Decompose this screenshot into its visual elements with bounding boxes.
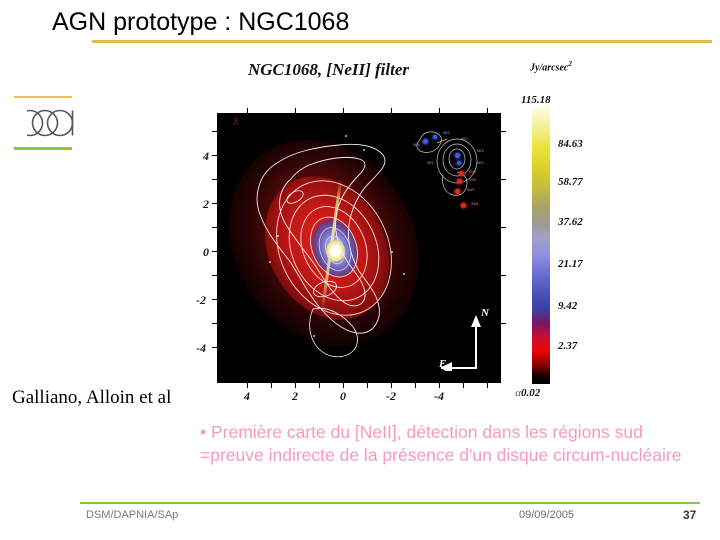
title-divider <box>92 40 712 43</box>
inset-label-ne4: NE4 <box>461 137 468 141</box>
compass-east-label: E <box>439 358 446 370</box>
colorbar-tick-84: 84.63 <box>558 138 583 150</box>
knot-blue-ne1 <box>457 161 461 165</box>
knot-red-sw4 <box>461 203 466 208</box>
y-tick <box>212 227 217 228</box>
alpha-axis-symbol: α <box>515 387 521 399</box>
slide-caption: • Première carte du [NeII], détection da… <box>200 421 700 467</box>
point-source <box>391 251 393 253</box>
x-tick-top <box>295 108 296 113</box>
x-tick <box>415 383 416 388</box>
knot-red-sw2 <box>457 179 462 184</box>
y-axis-label-m4: -4 <box>184 341 206 356</box>
colorbar-tick-21: 21.17 <box>558 258 583 270</box>
y-tick-right <box>501 227 506 228</box>
x-tick <box>487 383 488 388</box>
y-tick-right <box>501 131 506 132</box>
cea-logo <box>14 96 84 150</box>
x-tick-top <box>439 108 440 113</box>
x-tick <box>391 383 392 388</box>
plot-canvas: NE3 NE4 NE5 NE2 NE1 NE6 SW1 SW2 SW3 SW4 <box>217 113 501 383</box>
colorbar-tick-9: 9.42 <box>558 300 577 312</box>
y-tick <box>212 131 217 132</box>
x-tick-top <box>391 108 392 113</box>
inset-label-sw3: SW3 <box>467 188 474 192</box>
x-tick <box>319 383 320 388</box>
y-axis-label-m2: -2 <box>184 293 206 308</box>
inset-label-ne5: NE5 <box>477 149 484 153</box>
colorbar-tick-2: 2.37 <box>558 340 577 352</box>
knot-red-sw3 <box>455 189 460 194</box>
x-axis-label-m2: -2 <box>380 389 402 404</box>
footer-org: DSM/DAPNIA/SAp <box>86 509 178 521</box>
y-tick <box>212 275 217 276</box>
point-source <box>313 335 315 337</box>
y-tick-right <box>501 323 506 324</box>
page-title: AGN prototype : NGC1068 <box>52 8 349 37</box>
colorbar-unit-text: Jy/arcsec <box>530 62 568 73</box>
inset-label-ne1: NE1 <box>427 161 434 165</box>
inset-label-sw1: SW1 <box>469 170 476 174</box>
colorbar-max-label: 115.18 <box>521 94 551 106</box>
point-source <box>269 261 271 263</box>
compass-rose: N E <box>441 309 493 371</box>
x-tick <box>367 383 368 388</box>
x-tick <box>439 383 440 388</box>
y-axis-label-2: 2 <box>187 197 209 212</box>
x-axis-label-4: 4 <box>236 389 258 404</box>
y-tick <box>212 203 217 204</box>
x-tick-top <box>343 108 344 113</box>
y-axis-label-0: 0 <box>187 245 209 260</box>
inset-label-sw2: SW2 <box>469 178 476 182</box>
logo-rule-top <box>14 96 72 98</box>
point-source <box>403 273 405 275</box>
colorbar <box>532 108 550 384</box>
knot-blue-ne6 <box>423 139 428 144</box>
figure-title: NGC1068, [NeII] filter <box>248 60 409 80</box>
figure-credit: Galliano, Alloin et al <box>12 387 171 409</box>
colorbar-unit-exponent: 2 <box>568 60 572 68</box>
knot-blue-ne2 <box>455 153 460 158</box>
y-tick-right <box>501 179 506 180</box>
x-tick-top <box>247 108 248 113</box>
x-tick <box>343 383 344 388</box>
colorbar-tick-37: 37.62 <box>558 216 583 228</box>
footer-date: 09/09/2005 <box>519 509 574 521</box>
x-tick <box>247 383 248 388</box>
point-source <box>277 235 279 237</box>
y-tick <box>212 299 217 300</box>
colorbar-unit-label: Jy/arcsec2 <box>530 60 572 73</box>
knot-blue-ne5 <box>433 135 437 139</box>
x-axis-label-m4: -4 <box>428 389 450 404</box>
colorbar-min-label: 0.02 <box>521 387 540 399</box>
y-tick <box>212 251 217 252</box>
cea-wordmark-icon <box>14 104 84 142</box>
knot-annotation-cluster: NE3 NE4 NE5 NE2 NE1 NE6 SW1 SW2 SW3 SW4 <box>413 127 497 211</box>
y-tick <box>212 347 217 348</box>
footer-page-number: 37 <box>683 508 696 522</box>
knot-red-sw1 <box>459 171 464 176</box>
x-tick <box>271 383 272 388</box>
inset-label-sw4: SW4 <box>471 202 478 206</box>
inset-label-ne3: NE3 <box>443 131 450 135</box>
x-tick <box>295 383 296 388</box>
y-tick <box>212 323 217 324</box>
x-tick <box>463 383 464 388</box>
point-source <box>363 149 365 151</box>
y-axis-label-4: 4 <box>187 149 209 164</box>
logo-rule-bottom <box>14 147 72 150</box>
footer-divider <box>80 502 700 504</box>
figure-ngc1068: NGC1068, [NeII] filter Jy/arcsec2 115.18… <box>186 52 606 397</box>
compass-north-label: N <box>481 307 489 319</box>
inset-label-ne6: NE6 <box>413 143 420 147</box>
x-tick-top <box>487 108 488 113</box>
point-source <box>345 135 347 137</box>
y-tick <box>212 179 217 180</box>
inset-label-ne2: NE2 <box>477 161 484 165</box>
y-tick <box>212 155 217 156</box>
compass-north-arrowhead <box>471 315 481 327</box>
y-tick-right <box>501 275 506 276</box>
sky-image-plot: NE3 NE4 NE5 NE2 NE1 NE6 SW1 SW2 SW3 SW4 <box>217 113 501 383</box>
delta-axis-symbol: δ <box>233 116 238 128</box>
x-axis-label-0: 0 <box>332 389 354 404</box>
x-axis-label-2: 2 <box>284 389 306 404</box>
colorbar-tick-58: 58.77 <box>558 176 583 188</box>
